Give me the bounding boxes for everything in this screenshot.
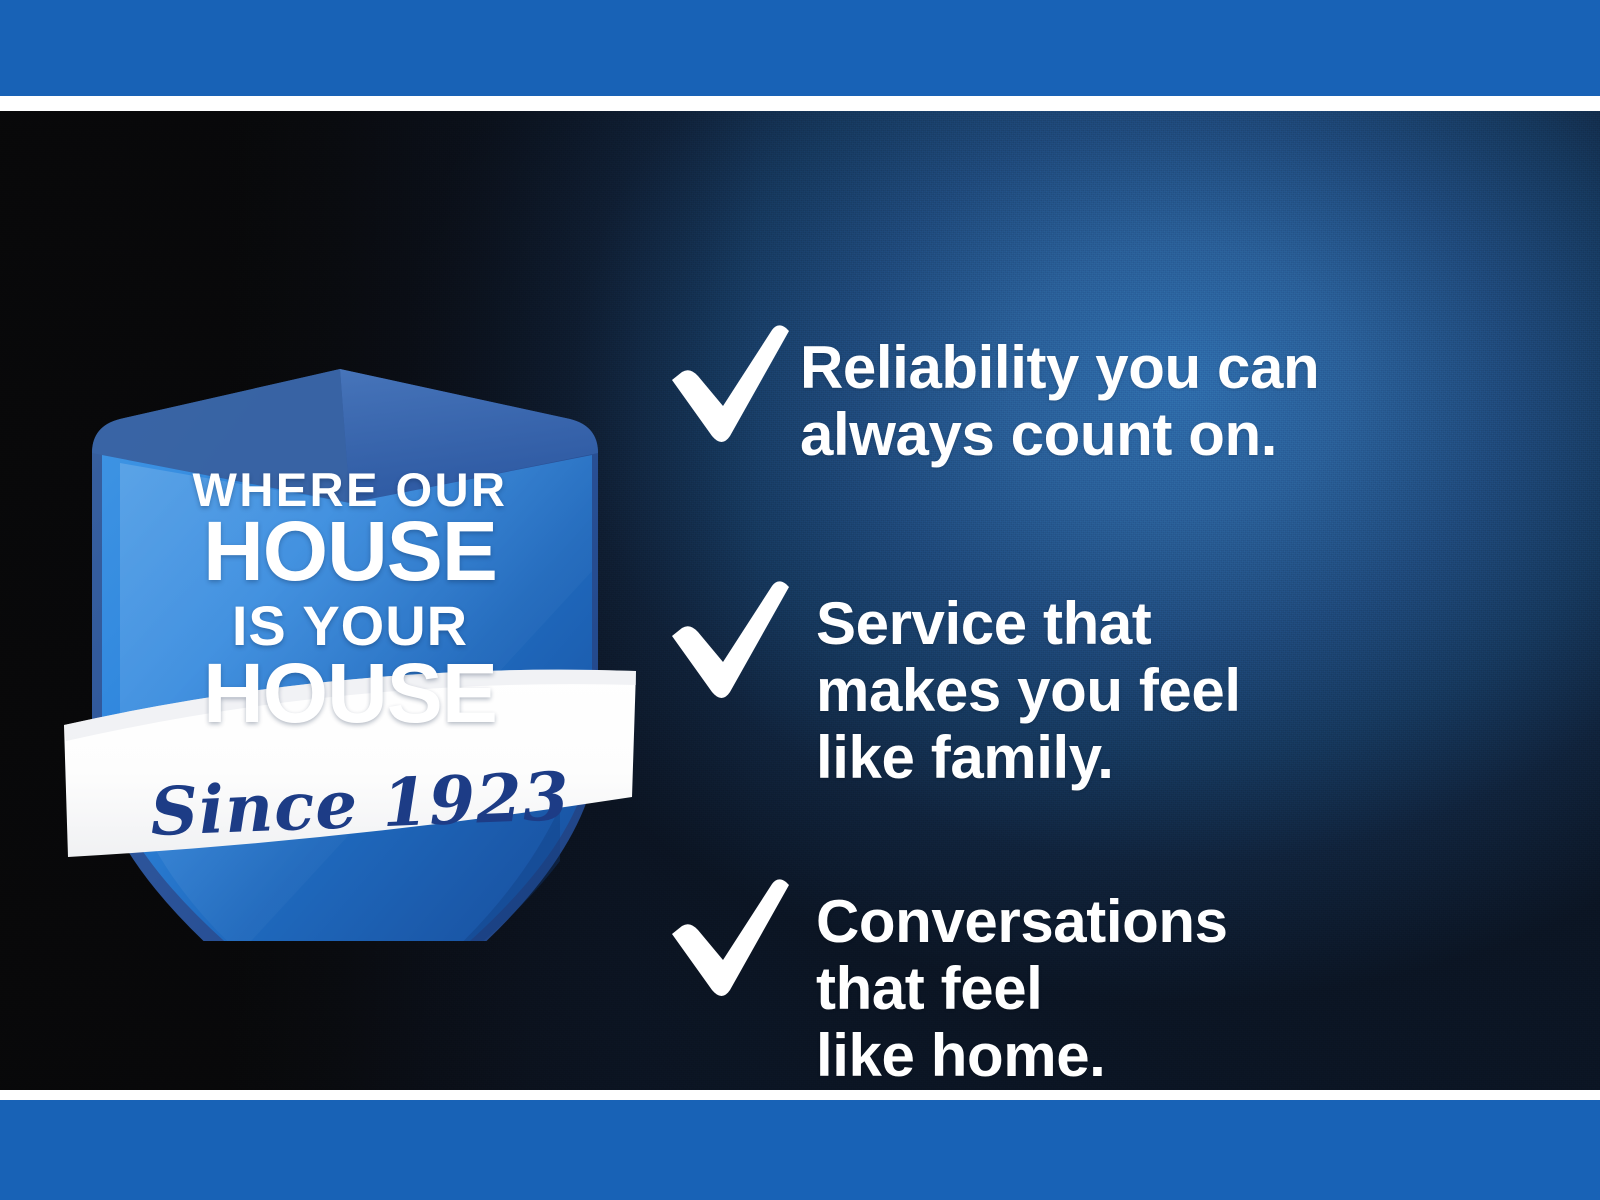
- benefit-item-service: Service that makes you feel like family.: [660, 580, 1241, 792]
- benefit-line-1: Service that: [816, 590, 1241, 657]
- main-stage: WHERE OUR HOUSE IS YOUR HOUSE Since 1923…: [0, 111, 1600, 1090]
- benefit-line-2: makes you feel: [816, 657, 1241, 724]
- shield-emblem: WHERE OUR HOUSE IS YOUR HOUSE Since 1923: [50, 241, 650, 941]
- benefit-text-service: Service that makes you feel like family.: [800, 590, 1241, 792]
- benefit-line-1: Reliability you can: [800, 334, 1319, 401]
- benefit-line-2: that feel: [816, 955, 1228, 1022]
- promo-graphic: WHERE OUR HOUSE IS YOUR HOUSE Since 1923…: [0, 0, 1600, 1200]
- checkmark-icon: [660, 580, 790, 700]
- benefits-list: Reliability you can always count on. Ser…: [660, 222, 1560, 1090]
- benefit-line-1: Conversations: [816, 888, 1228, 955]
- top-brand-bar: [0, 0, 1600, 96]
- benefit-text-reliability: Reliability you can always count on.: [800, 334, 1319, 468]
- benefit-item-reliability: Reliability you can always count on.: [660, 324, 1319, 468]
- benefit-text-conversations: Conversations that feel like home.: [800, 888, 1228, 1090]
- benefit-line-2: always count on.: [800, 401, 1319, 468]
- checkmark-icon: [660, 324, 790, 444]
- bottom-brand-bar: [0, 1100, 1600, 1200]
- benefit-line-3: like home.: [816, 1022, 1228, 1089]
- benefit-item-conversations: Conversations that feel like home.: [660, 878, 1228, 1090]
- shield-graphic: [50, 241, 650, 941]
- benefit-line-3: like family.: [816, 724, 1241, 791]
- checkmark-icon: [660, 878, 790, 998]
